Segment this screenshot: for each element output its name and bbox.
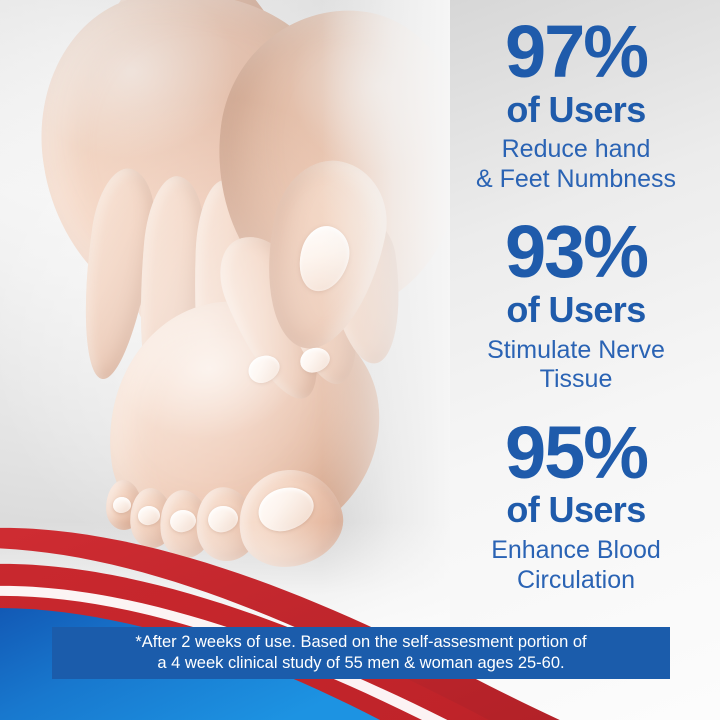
stat-of-users-2: of Users bbox=[440, 291, 712, 330]
footnote-banner: *After 2 weeks of use. Based on the self… bbox=[52, 627, 670, 679]
stat-block-2: 93% of Users Stimulate Nerve Tissue bbox=[440, 216, 712, 394]
footnote-line-1: *After 2 weeks of use. Based on the self… bbox=[135, 632, 586, 653]
stat-description-2: Stimulate Nerve Tissue bbox=[440, 336, 712, 395]
footnote-text: *After 2 weeks of use. Based on the self… bbox=[125, 632, 596, 674]
stat-description-2-line-2: Tissue bbox=[540, 365, 613, 393]
infographic-poster: 97% of Users Reduce hand & Feet Numbness… bbox=[0, 0, 720, 720]
stat-description-1-line-2: & Feet Numbness bbox=[476, 165, 676, 193]
footnote-line-2: a 4 week clinical study of 55 men & woma… bbox=[135, 653, 586, 674]
stat-percent-3: 95% bbox=[440, 417, 712, 490]
bottom-swoosh-graphics bbox=[0, 490, 720, 720]
stat-percent-2: 93% bbox=[440, 216, 712, 289]
stat-description-1: Reduce hand & Feet Numbness bbox=[440, 135, 712, 194]
stat-block-1: 97% of Users Reduce hand & Feet Numbness bbox=[440, 16, 712, 194]
stat-description-2-line-1: Stimulate Nerve bbox=[487, 336, 665, 364]
stat-percent-1: 97% bbox=[440, 16, 712, 89]
stat-of-users-1: of Users bbox=[440, 91, 712, 130]
stat-description-1-line-1: Reduce hand bbox=[502, 135, 651, 163]
